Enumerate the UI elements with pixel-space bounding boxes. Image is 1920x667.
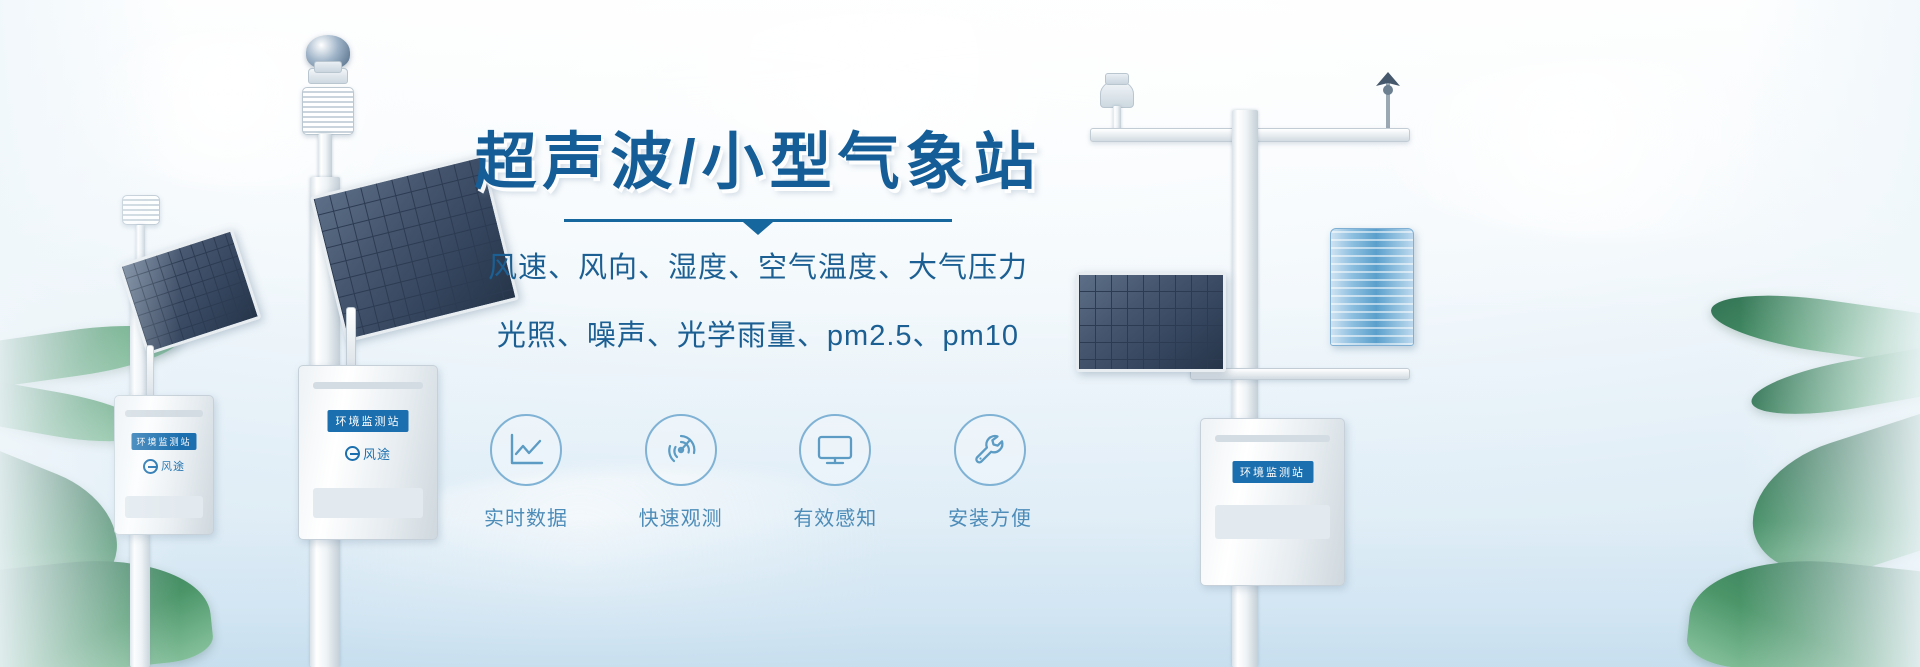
ultrasonic-sensor-body — [1100, 80, 1134, 108]
cloud-decoration — [1380, 60, 1860, 240]
feature-item-realtime-data[interactable]: 实时数据 — [466, 414, 586, 531]
radar-signal-icon — [645, 414, 717, 486]
cabinet-door-panel — [1215, 505, 1329, 539]
equipment-cabinet: 环境监测站 — [1200, 418, 1345, 586]
cabinet-vent — [1215, 435, 1329, 442]
weather-station-right: 环境监测站 — [1080, 70, 1420, 667]
feature-label: 安装方便 — [930, 502, 1050, 531]
monitor-icon — [799, 414, 871, 486]
feature-item-easy-install[interactable]: 安装方便 — [930, 414, 1050, 531]
brand-logo: 风途 — [143, 458, 185, 474]
sensor-mast — [318, 134, 332, 182]
line-chart-icon — [490, 414, 562, 486]
feature-label: 有效感知 — [775, 502, 895, 531]
page-title: 超声波/小型气象站 — [448, 128, 1068, 197]
product-banner: 环境监测站 风途 环境监测站 风途 — [0, 0, 1920, 667]
cabinet-tag: 环境监测站 — [1232, 461, 1313, 483]
cabinet-vent — [125, 410, 203, 417]
feature-label: 实时数据 — [466, 502, 586, 531]
brand-name: 风途 — [363, 444, 391, 463]
cabinet-vent — [313, 382, 423, 389]
subtitle-line-2: 光照、噪声、光学雨量、pm2.5、pm10 — [448, 314, 1068, 358]
wind-vane-icon — [1368, 70, 1408, 135]
equipment-cabinet: 环境监测站 风途 — [298, 365, 438, 540]
wrench-icon — [954, 414, 1026, 486]
banner-copy: 超声波/小型气象站 风速、风向、湿度、空气温度、大气压力 光照、噪声、光学雨量、… — [448, 128, 1068, 358]
weather-station-left: 环境监测站 风途 — [100, 195, 260, 667]
radiation-shield-icon — [122, 195, 160, 225]
divider-triangle-icon — [743, 222, 773, 235]
cabinet-door-panel — [125, 496, 203, 518]
radiation-shield-icon — [302, 87, 354, 135]
brand-logo: 风途 — [345, 444, 391, 463]
optical-rain-gauge — [1330, 228, 1414, 346]
ultrasonic-sensor-body — [308, 68, 348, 84]
brand-name: 风途 — [161, 458, 185, 474]
brand-mark-icon — [143, 459, 158, 474]
subtitle-line-1: 风速、风向、湿度、空气温度、大气压力 — [448, 246, 1068, 290]
feature-item-effective-sensing[interactable]: 有效感知 — [775, 414, 895, 531]
solar-panel — [1076, 272, 1226, 372]
feature-item-fast-observation[interactable]: 快速观测 — [621, 414, 741, 531]
title-divider — [564, 219, 952, 222]
cabinet-door-panel — [313, 488, 423, 518]
feature-list: 实时数据 快速观测 — [448, 414, 1068, 531]
feature-label: 快速观测 — [621, 502, 741, 531]
equipment-cabinet: 环境监测站 风途 — [114, 395, 214, 535]
cabinet-tag: 环境监测站 — [328, 410, 409, 432]
brand-mark-icon — [345, 446, 360, 461]
cabinet-tag: 环境监测站 — [131, 433, 196, 450]
